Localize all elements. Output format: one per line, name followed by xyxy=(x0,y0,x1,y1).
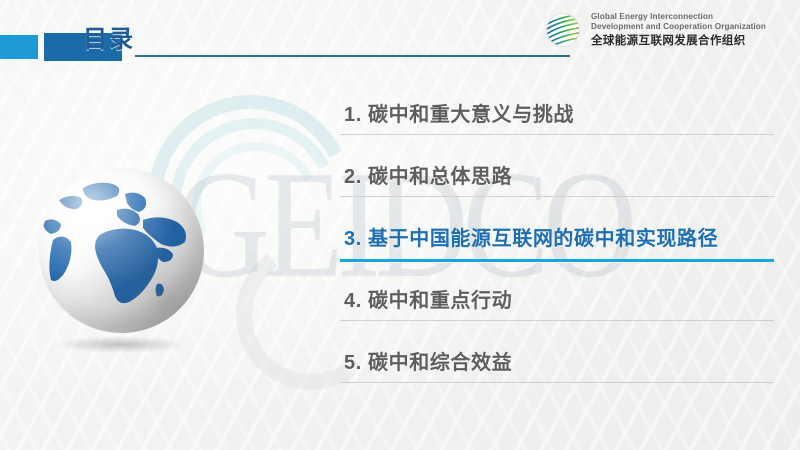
toc-item-5[interactable]: 5. 碳中和综合效益 xyxy=(340,340,774,402)
table-of-contents: 1. 碳中和重大意义与挑战 2. 碳中和总体思路 3. 基于中国能源互联网的碳中… xyxy=(340,92,774,402)
slide-canvas: GEIDCO 目录 xyxy=(0,0,800,450)
toc-item-label: 3. 基于中国能源互联网的碳中和实现路径 xyxy=(344,222,718,251)
toc-item-4[interactable]: 4. 碳中和重点行动 xyxy=(340,278,774,340)
logo-en-line1: Global Energy Interconnection xyxy=(591,12,766,22)
organization-logo: Global Energy Interconnection Developmen… xyxy=(542,9,766,51)
toc-item-divider xyxy=(340,320,774,321)
toc-item-label: 5. 碳中和综合效益 xyxy=(344,346,512,375)
globe-drop-shadow xyxy=(55,336,187,353)
toc-item-label: 2. 碳中和总体思路 xyxy=(344,160,512,189)
page-title: 目录 xyxy=(83,19,135,54)
logo-en-line2: Development and Cooperation Organization xyxy=(591,22,766,32)
toc-item-divider-active xyxy=(340,259,774,262)
toc-item-label: 1. 碳中和重大意义与挑战 xyxy=(344,98,574,127)
toc-item-divider xyxy=(340,382,774,383)
header-divider xyxy=(135,55,570,57)
logo-text-block: Global Energy Interconnection Developmen… xyxy=(591,12,766,48)
earth-globe-graphic xyxy=(33,168,213,368)
striped-globe-logo-icon xyxy=(542,9,584,51)
toc-item-divider xyxy=(340,196,774,197)
header-accent-square-light xyxy=(0,35,38,59)
toc-item-2[interactable]: 2. 碳中和总体思路 xyxy=(340,154,774,216)
toc-item-1[interactable]: 1. 碳中和重大意义与挑战 xyxy=(340,92,774,154)
toc-item-label: 4. 碳中和重点行动 xyxy=(344,284,512,313)
globe-sphere xyxy=(39,168,204,333)
toc-item-3[interactable]: 3. 基于中国能源互联网的碳中和实现路径 xyxy=(340,216,774,278)
logo-cn-line: 全球能源互联网发展合作组织 xyxy=(591,34,766,48)
toc-item-divider xyxy=(340,134,774,135)
